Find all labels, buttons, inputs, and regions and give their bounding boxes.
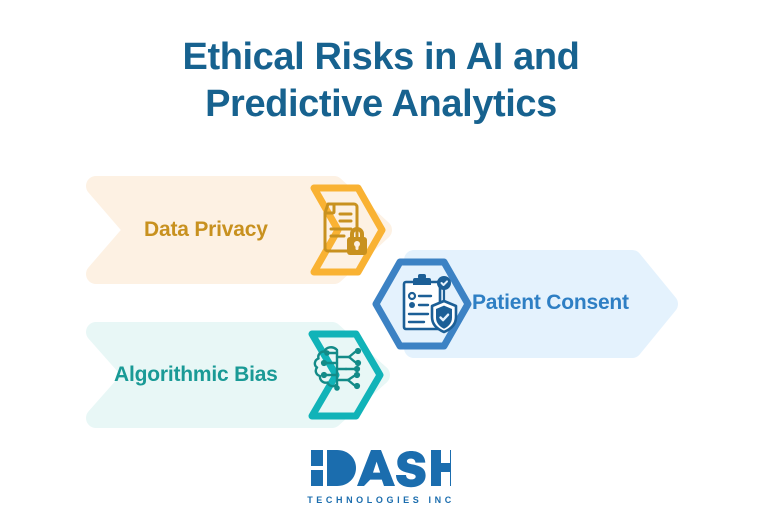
brain-circuit-icon: [312, 344, 368, 396]
risk-label-data-privacy: Data Privacy: [144, 218, 268, 242]
title-line-1: Ethical Risks in AI and: [0, 34, 762, 81]
page-title: Ethical Risks in AI and Predictive Analy…: [0, 34, 762, 128]
risk-label-patient-consent: Patient Consent: [472, 291, 629, 315]
logo-tagline: TECHNOLOGIES INC: [0, 495, 762, 505]
risk-label-algorithmic-bias: Algorithmic Bias: [114, 363, 278, 387]
clipboard-shield-check-icon: [398, 272, 460, 334]
title-line-2: Predictive Analytics: [0, 81, 762, 128]
document-lock-icon: [316, 200, 372, 258]
infographic-canvas: Ethical Risks in AI and Predictive Analy…: [0, 0, 762, 521]
dash-wordmark: [311, 448, 451, 490]
dash-logo: TECHNOLOGIES INC: [0, 448, 762, 505]
